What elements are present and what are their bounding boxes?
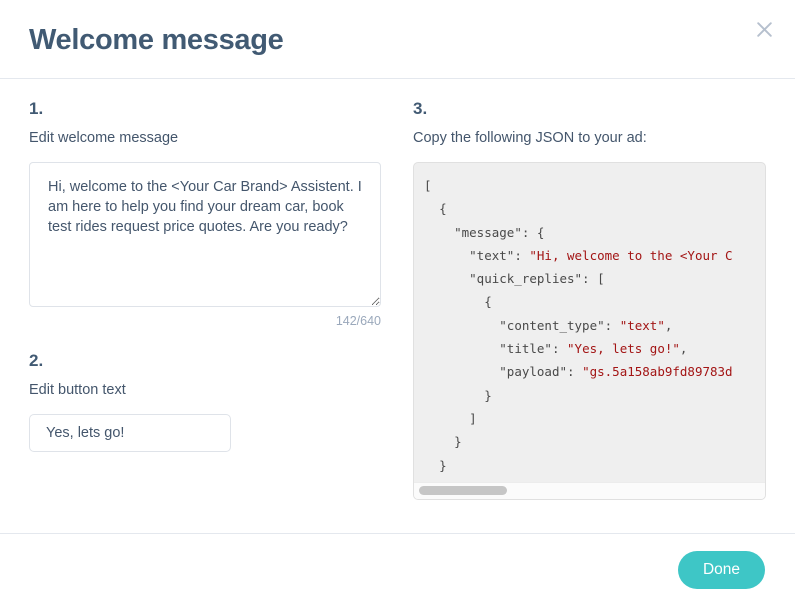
json-code-panel[interactable]: [ { "message": { "text": "Hi, welcome to…: [413, 162, 766, 500]
left-column: 1. Edit welcome message 142/640 2. Edit …: [29, 98, 381, 452]
json-code-block: [ { "message": { "text": "Hi, welcome to…: [424, 175, 765, 483]
step-2-label: Edit button text: [29, 380, 381, 400]
welcome-message-dialog: Welcome message 1. Edit welcome message …: [0, 0, 795, 604]
json-code-scroll-area: [ { "message": { "text": "Hi, welcome to…: [414, 163, 765, 483]
step-2-number: 2.: [29, 350, 381, 372]
step-3-number: 3.: [413, 98, 766, 120]
character-counter: 142/640: [29, 313, 381, 329]
json-code-text: [ { "message": { "text": "Hi, welcome to…: [424, 178, 733, 483]
close-icon: [756, 21, 773, 38]
step-1-section: 1. Edit welcome message 142/640: [29, 98, 381, 329]
right-column: 3. Copy the following JSON to your ad: […: [413, 98, 766, 500]
dialog-header: Welcome message: [0, 0, 795, 79]
step-2-section: 2. Edit button text: [29, 350, 381, 452]
dialog-body: 1. Edit welcome message 142/640 2. Edit …: [0, 79, 795, 534]
json-scrollbar-thumb[interactable]: [419, 486, 507, 495]
done-button[interactable]: Done: [678, 551, 765, 589]
welcome-message-textarea[interactable]: [29, 162, 381, 307]
json-horizontal-scrollbar[interactable]: [414, 482, 765, 499]
page-title: Welcome message: [29, 22, 284, 58]
dialog-footer: Done: [0, 534, 795, 604]
step-1-number: 1.: [29, 98, 381, 120]
step-1-label: Edit welcome message: [29, 128, 381, 148]
step-3-label: Copy the following JSON to your ad:: [413, 128, 766, 148]
close-button[interactable]: [750, 15, 778, 43]
button-text-input[interactable]: [29, 414, 231, 452]
